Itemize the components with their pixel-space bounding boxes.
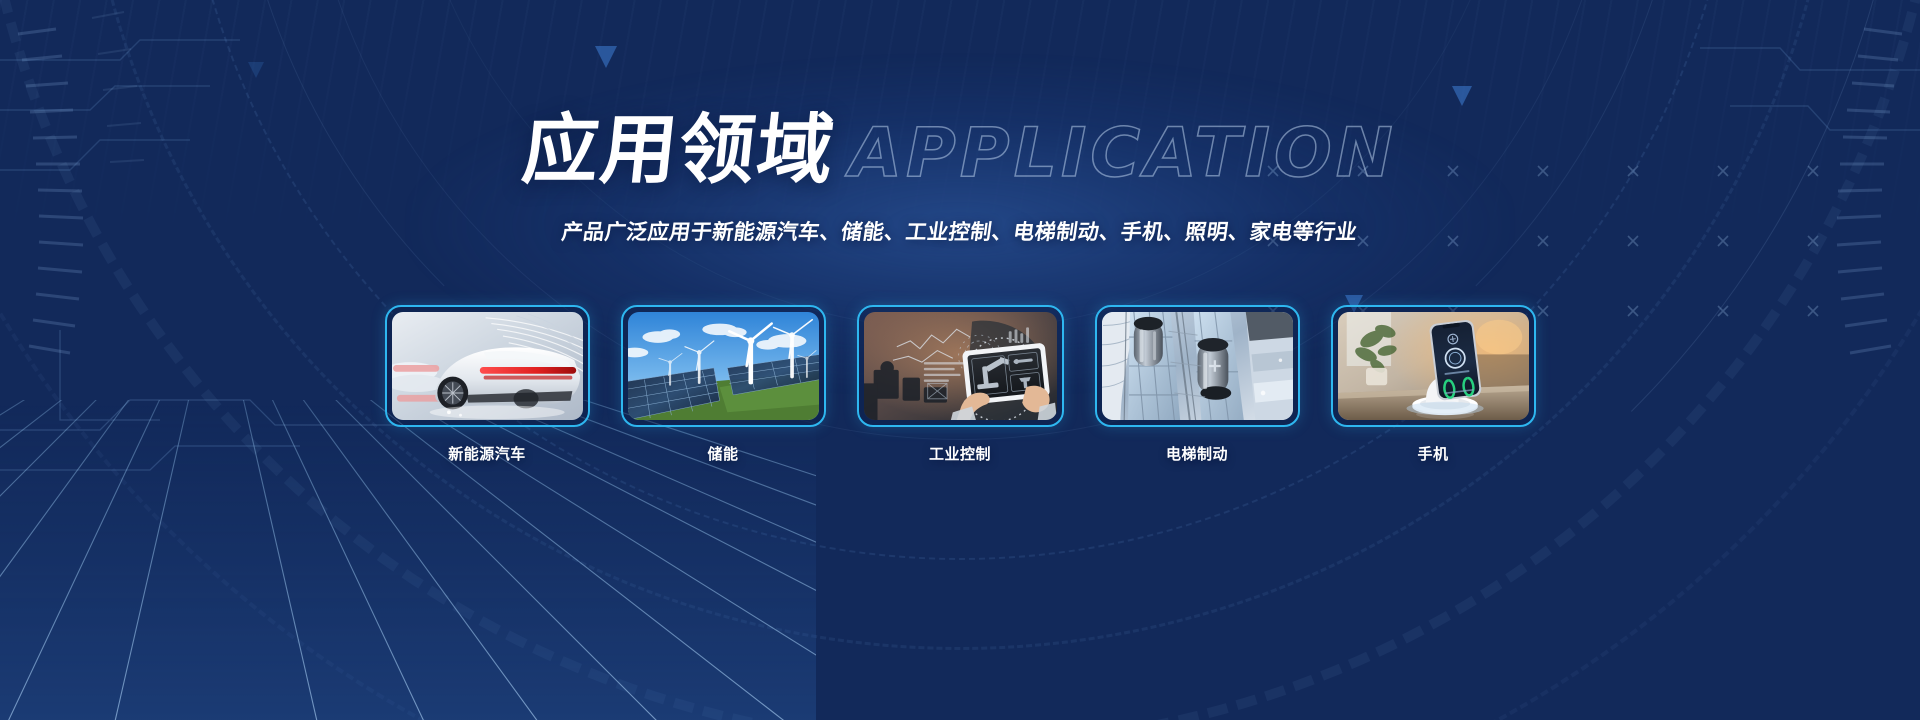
application-card-energy-storage[interactable]: 储能 (621, 305, 826, 464)
heading-block: 应用领域APPLICATION 产品广泛应用于新能源汽车、储能、工业控制、电梯制… (0, 112, 1920, 246)
industrial-tablet-image (864, 312, 1057, 420)
application-card-elevator-brake[interactable]: 电梯制动 (1095, 305, 1300, 464)
subtitle-row: 产品广泛应用于新能源汽车、储能、工业控制、电梯制动、手机、照明、家电等行业 (0, 188, 1920, 246)
page-title: 应用领域 (519, 112, 839, 188)
card-label: 储能 (707, 443, 738, 464)
card-label: 手机 (1417, 443, 1448, 464)
application-banner: 应用领域APPLICATION 产品广泛应用于新能源汽车、储能、工业控制、电梯制… (0, 0, 1920, 720)
dashed-ring-inner (180, 0, 1740, 560)
card-frame (385, 305, 590, 427)
application-card-mobile-phone[interactable]: 手机 (1331, 305, 1536, 464)
smartphone-charger-image (1338, 312, 1529, 420)
solar-wind-energy-image (628, 312, 819, 420)
electric-car-image (392, 312, 583, 420)
application-card-new-energy-vehicle[interactable]: 新能源汽车 (385, 305, 590, 464)
card-frame (1331, 305, 1536, 427)
card-frame (621, 305, 826, 427)
page-title-english: APPLICATION (849, 120, 1396, 188)
elevator-shaft-image (1102, 312, 1293, 420)
card-label: 电梯制动 (1166, 443, 1228, 464)
page-subtitle: 产品广泛应用于新能源汽车、储能、工业控制、电梯制动、手机、照明、家电等行业 (560, 216, 1360, 246)
application-card-industrial-control[interactable]: 工业控制 (857, 305, 1064, 464)
card-label: 新能源汽车 (448, 443, 526, 464)
application-card-list: 新能源汽车 (0, 305, 1920, 464)
title-row: 应用领域APPLICATION (523, 112, 1396, 188)
card-frame (1095, 305, 1300, 427)
card-frame (857, 305, 1064, 427)
card-label: 工业控制 (929, 443, 991, 464)
